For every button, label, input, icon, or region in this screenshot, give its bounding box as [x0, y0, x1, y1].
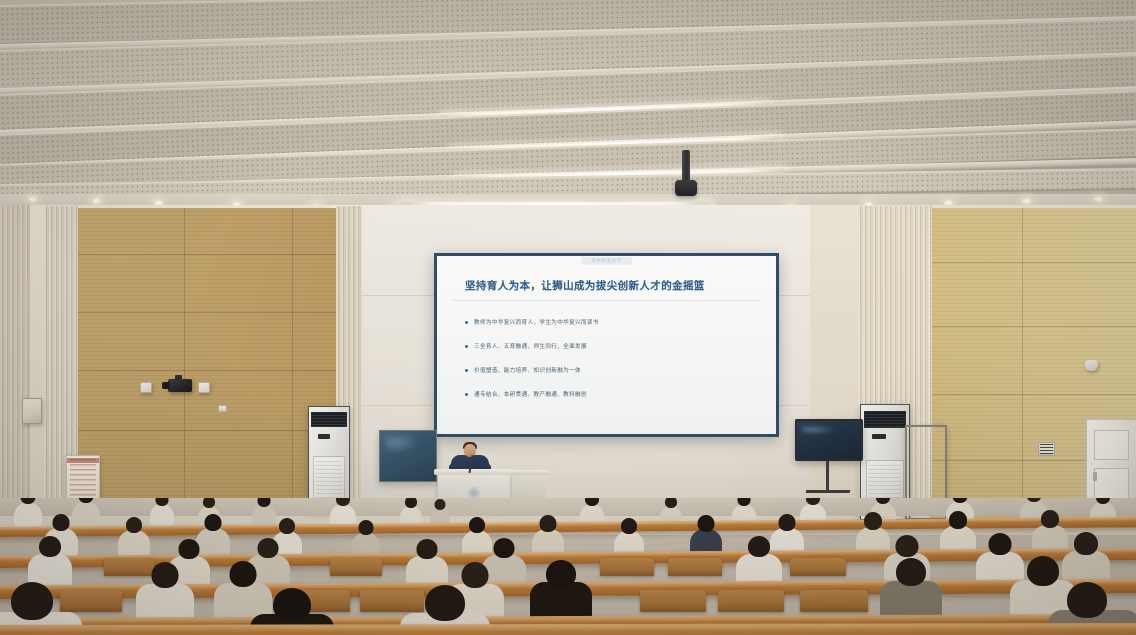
left-air-conditioner [308, 406, 350, 510]
seat-back [360, 590, 424, 612]
audience-person [118, 530, 150, 556]
fire-extinguisher-box [22, 398, 42, 424]
bullet-dot-icon [465, 369, 468, 372]
bullet-text: 教师为中华复兴而育人，学生为中华复兴而读书 [474, 318, 599, 326]
seat-back [800, 590, 868, 612]
wall-camera-icon [168, 379, 192, 392]
seat-back [790, 558, 846, 576]
slide-divider [453, 300, 760, 301]
bullet-dot-icon [465, 321, 468, 324]
left-acoustic-wall [76, 208, 336, 508]
projection-screen: 华中农业大学 坚持育人为本，让狮山成为拔尖创新人才的金摇篮 教师为中华复兴而育人… [434, 253, 779, 437]
slide-bullet: 价值塑造、能力培养、知识创新融为一体 [465, 366, 756, 374]
audience-person [72, 501, 100, 526]
slide-bullet: 三全育人、五育融通、师生同行、全面发展 [465, 342, 756, 350]
bullet-text: 价值塑造、能力培养、知识创新融为一体 [474, 366, 581, 374]
ceiling [0, 0, 1136, 215]
wall-plate [218, 405, 227, 412]
bullet-dot-icon [465, 393, 468, 396]
slide-watermark: 华中农业大学 [581, 257, 632, 265]
seat-back [104, 558, 154, 576]
tv-stand-base [806, 490, 851, 493]
seat-back [60, 590, 122, 612]
door-handle[interactable] [1093, 472, 1097, 481]
downlight [28, 196, 37, 202]
seat-back [718, 590, 784, 612]
presenter-head [464, 444, 476, 457]
right-wall-notice [1038, 442, 1055, 456]
wall-speaker [140, 382, 152, 393]
audience-person [196, 528, 230, 556]
audience-person [14, 502, 42, 526]
bullet-text: 三全育人、五育融通、师生同行、全面发展 [474, 342, 587, 350]
seat-back [640, 590, 706, 612]
slide-bullet: 通专结合、本研贯通、教产融通、教科融创 [465, 390, 756, 398]
wall-speaker [198, 382, 210, 393]
slide-content: 华中农业大学 坚持育人为本，让狮山成为拔尖创新人才的金摇篮 教师为中华复兴而育人… [437, 256, 776, 434]
audience-person [150, 504, 174, 526]
tv-stand [826, 461, 829, 493]
slide-bullet: 教师为中华复兴而育人，学生为中华复兴而读书 [465, 318, 756, 326]
seat-back [330, 558, 382, 576]
exit-door[interactable] [1085, 418, 1136, 510]
left-flat-panel-display [379, 430, 437, 482]
lecture-hall-photo: 华中农业大学 坚持育人为本，让狮山成为拔尖创新人才的金摇篮 教师为中华复兴而育人… [0, 0, 1136, 635]
seat-back [668, 558, 722, 576]
seat-back [600, 558, 654, 576]
bullet-dot-icon [465, 345, 468, 348]
wall-camera-right-icon [1085, 360, 1098, 371]
information-poster [66, 455, 100, 503]
downlight [1022, 198, 1031, 204]
bullet-text: 通专结合、本研贯通、教产融通、教科融创 [474, 390, 587, 398]
ceiling-projector [682, 150, 690, 188]
downlight [1094, 196, 1103, 202]
audience-seating [0, 498, 1136, 635]
tv-monitor [795, 419, 863, 461]
audience-person [330, 504, 356, 526]
downlight [92, 198, 101, 204]
ribbed-column [0, 205, 30, 505]
audience-person [252, 505, 276, 526]
slide-bullet-list: 教师为中华复兴而育人，学生为中华复兴而读书 三全育人、五育融通、师生同行、全面发… [465, 318, 756, 414]
desk-row-front [0, 623, 1136, 635]
slide-title: 坚持育人为本，让狮山成为拔尖创新人才的金摇篮 [465, 278, 705, 293]
